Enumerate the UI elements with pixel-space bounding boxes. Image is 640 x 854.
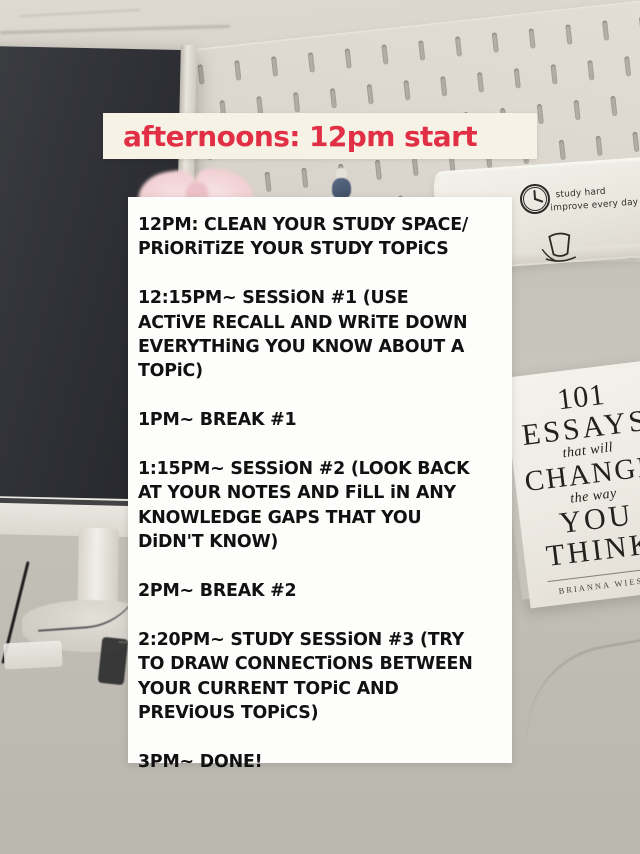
title-banner: afternoons: 12pm start (103, 113, 537, 159)
pegboard-slot (602, 20, 609, 40)
pegboard-slot (440, 76, 447, 96)
pegboard-slot (375, 160, 382, 180)
pegboard-slot (537, 104, 544, 124)
pegboard-slot (308, 52, 315, 72)
figurine-body (332, 178, 351, 199)
banner-title-text: afternoons: 12pm start (123, 120, 477, 153)
pegboard-slot (403, 80, 410, 100)
pegboard-slot (565, 24, 572, 44)
schedule-text: 12PM: CLEAN YOUR STUDY SPACE/ PRiORiTiZE… (138, 213, 498, 774)
pegboard-slot (559, 140, 566, 160)
pegboard-slot (529, 28, 536, 48)
pegboard-slot (418, 40, 425, 60)
pegboard-slot (381, 44, 388, 64)
schedule-card: 12PM: CLEAN YOUR STUDY SPACE/ PRiORiTiZE… (128, 197, 512, 763)
screenshot-root: study hard improve every day 101 ESSAYS … (0, 0, 640, 854)
pegboard-slot (632, 132, 639, 152)
pegboard-slot (330, 88, 337, 108)
clock-icon (517, 181, 553, 217)
pegboard-slot (477, 72, 484, 92)
pegboard-slot (345, 48, 352, 68)
pegboard-slot (264, 172, 271, 192)
pegboard-slot (455, 36, 462, 56)
power-adapter (3, 641, 62, 670)
monitor-foot (98, 637, 129, 685)
pegboard-slot (301, 168, 308, 188)
pegboard-slot (595, 136, 602, 156)
pegboard-slot (234, 60, 241, 80)
pegboard-slot (610, 96, 617, 116)
pegboard-slot (551, 64, 558, 84)
cup-doodle-icon (539, 227, 581, 266)
book-author: BRIANNA WIEST (528, 571, 640, 599)
pegboard-slot (271, 56, 278, 76)
pegboard-slot (367, 84, 374, 104)
pegboard-slot (587, 60, 594, 80)
pegboard-slot (514, 68, 521, 88)
pegboard-slot (492, 32, 499, 52)
pegboard-slot (573, 100, 580, 120)
pegboard-slot (624, 56, 631, 76)
pegboard-slot (197, 64, 204, 84)
pegboard-slot (293, 92, 300, 112)
